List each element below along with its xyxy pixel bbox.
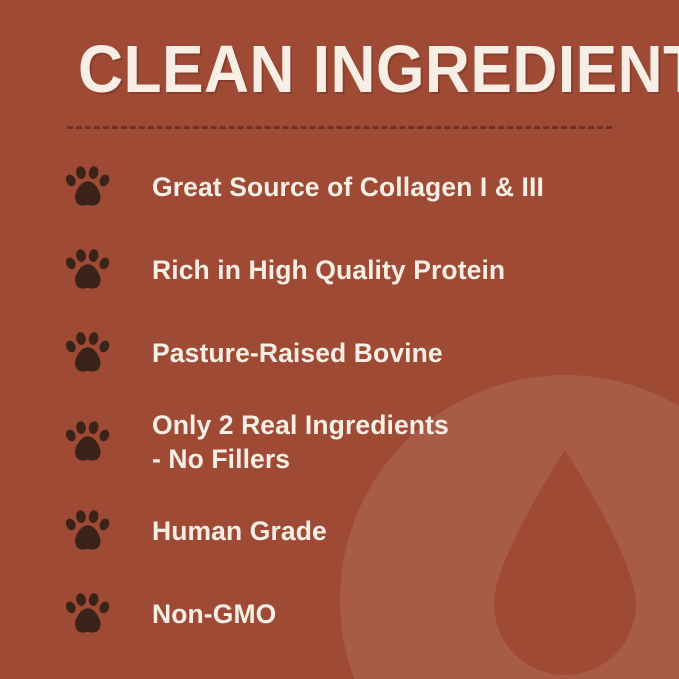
paw-print-icon <box>66 593 110 635</box>
clean-ingredients-poster: CLEAN INGREDIENTS Great Source of Collag… <box>0 0 679 679</box>
list-item-label: Human Grade <box>152 514 327 548</box>
list-item-label: Great Source of Collagen I & III <box>152 170 544 204</box>
list-item: Only 2 Real Ingredients - No Fillers <box>0 403 679 481</box>
page-title: CLEAN INGREDIENTS <box>78 34 580 106</box>
paw-print-icon <box>66 510 110 552</box>
dashed-divider <box>67 126 612 129</box>
list-item: Pasture-Raised Bovine <box>0 320 679 386</box>
list-item: Rich in High Quality Protein <box>0 237 679 303</box>
list-item-label: Only 2 Real Ingredients - No Fillers <box>152 408 449 476</box>
paw-print-icon <box>66 332 110 374</box>
list-item-label: Non-GMO <box>152 597 276 631</box>
list-item: Non-GMO <box>0 581 679 647</box>
list-item-label: Pasture-Raised Bovine <box>152 336 443 370</box>
list-item: Human Grade <box>0 498 679 564</box>
paw-print-icon <box>66 166 110 208</box>
feature-list: Great Source of Collagen I & III Rich in… <box>0 154 679 664</box>
paw-print-icon <box>66 421 110 463</box>
list-item-label: Rich in High Quality Protein <box>152 253 505 287</box>
list-item: Great Source of Collagen I & III <box>0 154 679 220</box>
paw-print-icon <box>66 249 110 291</box>
